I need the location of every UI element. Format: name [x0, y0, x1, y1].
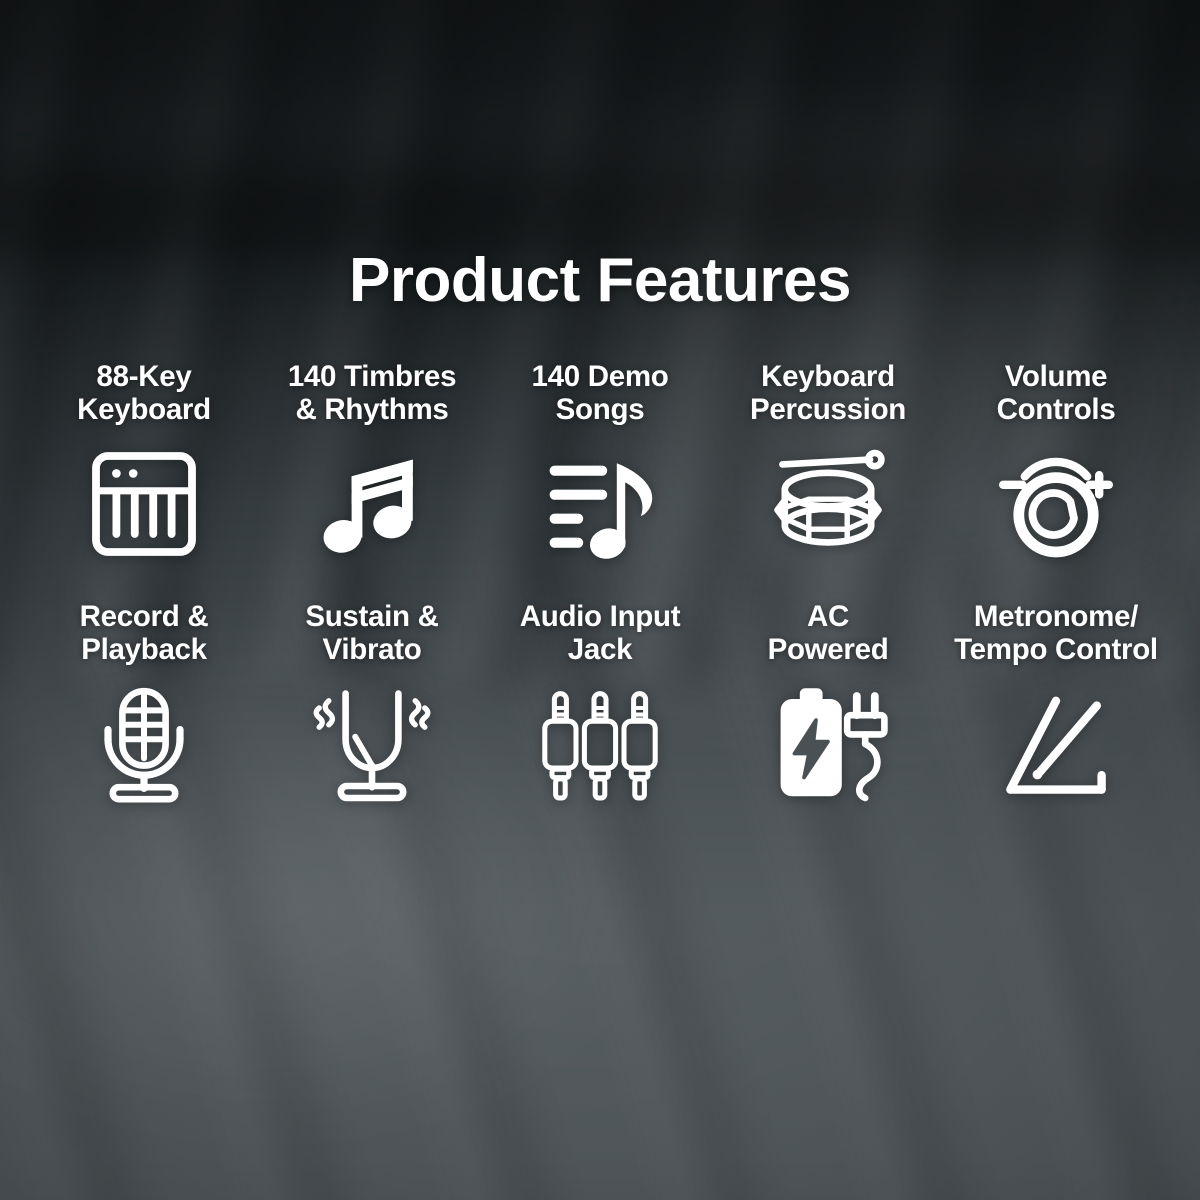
feature-label: Sustain & Vibrato [305, 600, 438, 668]
keyboard-icon [84, 444, 204, 564]
tuning-fork-vibrato-icon [312, 684, 432, 804]
volume-knob-icon [996, 444, 1116, 564]
battery-plug-icon [768, 684, 888, 804]
music-notes-icon [312, 444, 432, 564]
feature-item-metronome-tempo-control: Metronome/ Tempo Control [942, 600, 1170, 804]
microphone-icon [84, 684, 204, 804]
feature-label: Volume Controls [997, 360, 1116, 428]
feature-item-88-key-keyboard: 88-Key Keyboard [30, 360, 258, 564]
feature-item-ac-powered: AC Powered [714, 600, 942, 804]
feature-item-audio-input-jack: Audio Input Jack [486, 600, 714, 804]
feature-label: Audio Input Jack [520, 600, 681, 668]
feature-item-keyboard-percussion: Keyboard Percussion [714, 360, 942, 564]
feature-item-record-playback: Record & Playback [30, 600, 258, 804]
feature-item-sustain-vibrato: Sustain & Vibrato [258, 600, 486, 804]
playlist-note-icon [540, 444, 660, 564]
feature-item-140-demo-songs: 140 Demo Songs [486, 360, 714, 564]
snare-drum-icon [768, 444, 888, 564]
page-title: Product Features [349, 250, 851, 312]
metronome-icon [996, 684, 1116, 804]
feature-label: AC Powered [768, 600, 889, 668]
feature-label: 88-Key Keyboard [77, 360, 211, 428]
feature-row-two: Record & Playback Sustain & Vibrato [30, 600, 1170, 804]
feature-label: Keyboard Percussion [750, 360, 906, 428]
feature-label: 140 Demo Songs [532, 360, 669, 428]
feature-label: Metronome/ Tempo Control [954, 600, 1158, 668]
feature-infographic: Product Features 88-Key Keyboard 140 Tim… [0, 0, 1200, 1200]
feature-item-140-timbres-rhythms: 140 Timbres & Rhythms [258, 360, 486, 564]
feature-row-one: 88-Key Keyboard 140 Timbres & Rhythms [30, 360, 1170, 564]
feature-label: 140 Timbres & Rhythms [288, 360, 456, 428]
feature-label: Record & Playback [80, 600, 209, 668]
audio-jack-icon [540, 684, 660, 804]
feature-item-volume-controls: Volume Controls [942, 360, 1170, 564]
